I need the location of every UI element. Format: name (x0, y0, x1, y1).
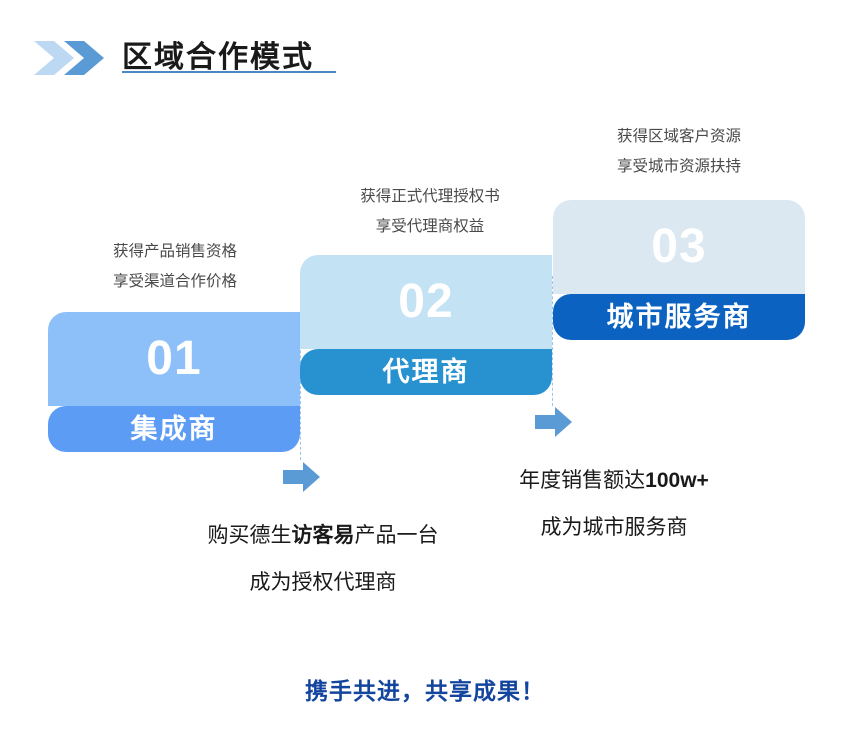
step-card-01-band: 集成商 (48, 406, 300, 452)
step-card-01-role: 集成商 (131, 416, 218, 443)
step-card-02[interactable]: 02 代理商 (300, 255, 552, 395)
step-card-03[interactable]: 03 城市服务商 (553, 200, 805, 340)
infographic-canvas: 区域合作模式 获得产品销售资格 享受渠道合作价格 获得正式代理授权书 享受代理商… (0, 0, 850, 737)
caption-step-01-line2: 享受渠道合作价格 (85, 267, 265, 297)
requirement-block-2: 年度销售额达100w+ 成为城市服务商 (420, 457, 808, 551)
flow-arrow-to-requirement-1 (283, 461, 321, 498)
step-card-01-number: 01 (146, 335, 201, 383)
caption-step-03: 获得区域客户资源 享受城市资源扶持 (588, 122, 770, 182)
step-card-03-role: 城市服务商 (607, 304, 752, 331)
step-card-02-band: 代理商 (300, 349, 552, 395)
requirement-1-line2: 成为授权代理商 (128, 559, 518, 606)
requirement-2-line2: 成为城市服务商 (420, 504, 808, 551)
step-card-03-top: 03 (553, 200, 805, 294)
step-card-02-role: 代理商 (383, 359, 470, 386)
page-title-wrap: 区域合作模式 (122, 43, 314, 73)
step-card-02-number: 02 (398, 278, 453, 326)
caption-step-03-line2: 享受城市资源扶持 (588, 152, 770, 182)
requirement-1-line1-prefix: 购买德生 (208, 524, 292, 547)
page-title: 区域合作模式 (122, 41, 314, 80)
caption-step-01-line1: 获得产品销售资格 (85, 237, 265, 267)
caption-step-01: 获得产品销售资格 享受渠道合作价格 (85, 237, 265, 297)
title-underline (122, 71, 336, 73)
caption-step-02: 获得正式代理授权书 享受代理商权益 (330, 182, 530, 242)
requirement-2-line1: 年度销售额达100w+ (420, 457, 808, 504)
double-chevron-icon (32, 38, 108, 78)
step-card-02-top: 02 (300, 255, 552, 349)
step-card-03-band: 城市服务商 (553, 294, 805, 340)
requirement-2-line1-prefix: 年度销售额达 (519, 469, 645, 492)
header: 区域合作模式 (32, 38, 314, 78)
step-card-01[interactable]: 01 集成商 (48, 312, 300, 452)
requirement-2-line1-strong: 100w+ (645, 469, 709, 492)
step-card-01-top: 01 (48, 312, 300, 406)
step-card-03-number: 03 (651, 223, 706, 271)
caption-step-02-line2: 享受代理商权益 (330, 212, 530, 242)
flow-arrow-to-requirement-2 (535, 406, 573, 443)
requirement-1-line1-strong: 访客易 (292, 524, 355, 547)
caption-step-03-line1: 获得区域客户资源 (588, 122, 770, 152)
footer-tagline: 携手共进，共享成果！ (0, 672, 850, 706)
caption-step-02-line1: 获得正式代理授权书 (330, 182, 530, 212)
